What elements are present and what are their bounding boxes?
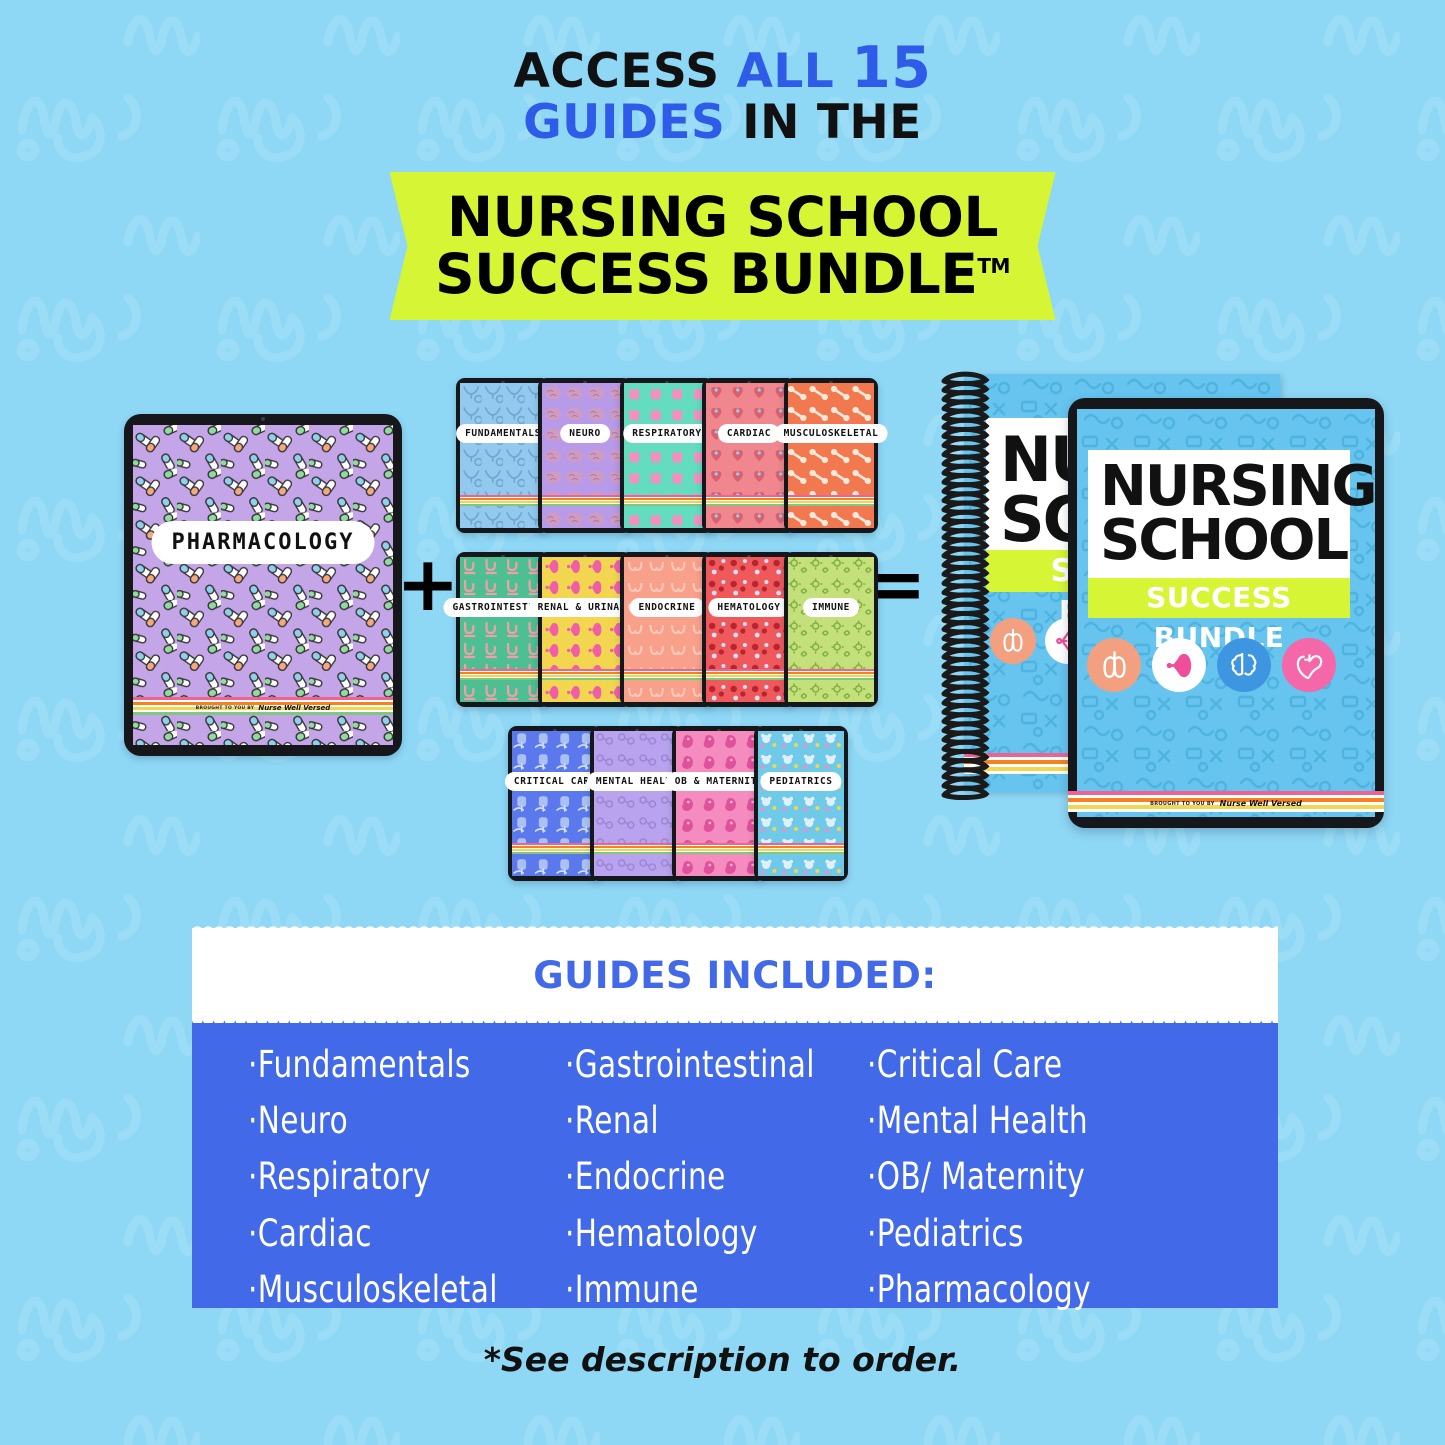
guides-column-3: ·Critical Care·Mental Health·OB/ Materni… bbox=[867, 1037, 1222, 1308]
banner-line-1: NURSING SCHOOL bbox=[447, 189, 998, 246]
guide-list-item: ·Hematology bbox=[565, 1206, 849, 1262]
guide-cover bbox=[460, 557, 546, 702]
guide-label: IMMUNE bbox=[803, 598, 859, 617]
guide-label: HEMATOLOGY bbox=[708, 598, 789, 617]
tablet-gastrointestinal[interactable]: GASTROINTESTINAL bbox=[456, 552, 550, 707]
guide-label: PEDIATRICS bbox=[760, 772, 841, 791]
guide-brand-stripe bbox=[594, 843, 680, 854]
banner-line-2-wrap: SUCCESS BUNDLETM bbox=[435, 246, 1010, 303]
guide-list-item: ·Pharmacology bbox=[867, 1262, 1151, 1318]
pharmacology-cover: PHARMACOLOGY BROUGHT TO YOU BY Nurse Wel… bbox=[133, 425, 393, 745]
guide-label: CARDIAC bbox=[718, 424, 780, 443]
guide-list-item: ·Cardiac bbox=[248, 1206, 532, 1262]
headline-in-the: IN THE bbox=[725, 95, 922, 150]
guide-brand-stripe bbox=[758, 843, 844, 854]
guides-included-card: GUIDES INCLUDED: ·Fundamentals·Neuro·Res… bbox=[192, 928, 1278, 1308]
guide-cover bbox=[460, 383, 546, 528]
guide-cover bbox=[542, 383, 628, 528]
guide-brand-stripe bbox=[542, 669, 628, 680]
headline-line-1: ACCESS ALL 15 bbox=[0, 38, 1445, 98]
guide-cover bbox=[788, 383, 874, 528]
tablet-neuro[interactable]: NEURO bbox=[538, 378, 632, 533]
tablet-ob-maternity[interactable]: OB & MATERNITY bbox=[672, 726, 766, 881]
tablet-cardiac[interactable]: CARDIAC bbox=[702, 378, 796, 533]
headline-all: ALL bbox=[736, 44, 851, 99]
headline-guides: GUIDES bbox=[523, 95, 725, 150]
pharmacology-label: PHARMACOLOGY bbox=[152, 521, 375, 564]
hero-brand-text: BROUGHT TO YOU BY bbox=[196, 706, 255, 711]
guide-list-item: ·Respiratory bbox=[248, 1149, 532, 1205]
guide-list-item: ·OB/ Maternity bbox=[867, 1149, 1151, 1205]
guide-brand-stripe bbox=[624, 669, 710, 680]
guide-cover bbox=[594, 731, 680, 876]
guide-list-item: ·Mental Health bbox=[867, 1093, 1151, 1149]
guide-brand-stripe bbox=[460, 669, 546, 680]
guide-brand-stripe bbox=[624, 495, 710, 506]
tablet-bundle[interactable]: NURSING SCHOOL SUCCESS BUNDLE bbox=[1068, 398, 1384, 828]
tablet-endocrine[interactable]: ENDOCRINE bbox=[620, 552, 714, 707]
brain-icon bbox=[1217, 638, 1271, 692]
trademark-symbol: TM bbox=[977, 254, 1010, 278]
tablet-respiratory[interactable]: RESPIRATORY bbox=[620, 378, 714, 533]
camera-dot bbox=[261, 417, 265, 421]
guide-list-item: ·Renal bbox=[565, 1093, 849, 1149]
guide-list-item: ·Neuro bbox=[248, 1093, 532, 1149]
guide-label: RESPIRATORY bbox=[623, 424, 711, 443]
guide-label: NEURO bbox=[560, 424, 610, 443]
guide-list-item: ·Musculoskeletal bbox=[248, 1262, 532, 1318]
guide-cover bbox=[542, 557, 628, 702]
tablet-critical-care[interactable]: CRITICAL CARE bbox=[508, 726, 602, 881]
bundle-subtitle: SUCCESS BUNDLE bbox=[1088, 578, 1350, 618]
bundle-cover: NURSING SCHOOL SUCCESS BUNDLE bbox=[1077, 409, 1375, 817]
guide-brand-stripe bbox=[676, 843, 762, 854]
guide-cover bbox=[788, 557, 874, 702]
guide-brand-stripe bbox=[460, 495, 546, 506]
guide-cover bbox=[676, 731, 762, 876]
lungs-icon bbox=[990, 618, 1036, 664]
hero-brand-name: Nurse Well Versed bbox=[258, 704, 330, 712]
guides-column-1: ·Fundamentals·Neuro·Respiratory·Cardiac·… bbox=[248, 1037, 603, 1308]
tablet-pediatrics[interactable]: PEDIATRICS bbox=[754, 726, 848, 881]
bundle-title-line2: SCHOOL bbox=[1100, 514, 1342, 568]
guides-heading: GUIDES INCLUDED: bbox=[533, 954, 936, 997]
guide-brand-stripe bbox=[706, 495, 792, 506]
guide-label: ENDOCRINE bbox=[630, 598, 705, 617]
guide-brand-stripe bbox=[512, 843, 598, 854]
headline-access: ACCESS bbox=[514, 44, 737, 99]
bundle-title-block: NURSING SCHOOL bbox=[1088, 450, 1350, 578]
headline-line-2: GUIDES IN THE bbox=[0, 98, 1445, 148]
headline-count: 15 bbox=[851, 35, 931, 101]
guide-brand-stripe bbox=[542, 495, 628, 506]
bundle-brand-text: BROUGHT TO YOU BY bbox=[1150, 801, 1215, 807]
guide-cover bbox=[624, 557, 710, 702]
tablet-pharmacology[interactable]: PHARMACOLOGY BROUGHT TO YOU BY Nurse Wel… bbox=[124, 414, 402, 756]
kidney-icon bbox=[1152, 638, 1206, 692]
guide-cover bbox=[758, 731, 844, 876]
guide-cover bbox=[706, 557, 792, 702]
tablet-hematology[interactable]: HEMATOLOGY bbox=[702, 552, 796, 707]
guide-list-item: ·Pediatrics bbox=[867, 1206, 1151, 1262]
guide-brand-stripe bbox=[788, 669, 874, 680]
scallop-top bbox=[192, 924, 1278, 931]
guides-body: ·Fundamentals·Neuro·Respiratory·Cardiac·… bbox=[192, 1023, 1278, 1308]
tablet-immune[interactable]: IMMUNE bbox=[784, 552, 878, 707]
guide-brand-stripe bbox=[706, 669, 792, 680]
guide-brand-stripe bbox=[788, 495, 874, 506]
guide-list-item: ·Immune bbox=[565, 1262, 849, 1318]
bundle-title-line1: NURSING bbox=[1100, 460, 1342, 514]
guide-label: MUSCULOSKELETAL bbox=[775, 424, 888, 443]
guide-list-item: ·Critical Care bbox=[867, 1037, 1151, 1093]
guide-cover bbox=[512, 731, 598, 876]
spiral-binding-icon bbox=[938, 370, 994, 802]
heart-icon bbox=[1282, 638, 1336, 692]
banner-line-2: SUCCESS BUNDLE bbox=[435, 242, 977, 306]
guide-list-item: ·Endocrine bbox=[565, 1149, 849, 1205]
guide-cover bbox=[706, 383, 792, 528]
guide-list-item: ·Gastrointestinal bbox=[565, 1037, 849, 1093]
page-headline: ACCESS ALL 15 GUIDES IN THE bbox=[0, 38, 1445, 148]
guide-list-item: ·Fundamentals bbox=[248, 1037, 532, 1093]
tablet-mental-health[interactable]: MENTAL HEALTH bbox=[590, 726, 684, 881]
guides-header: GUIDES INCLUDED: bbox=[192, 928, 1278, 1023]
guide-label: FUNDAMENTALS bbox=[456, 424, 550, 443]
lungs-icon bbox=[1087, 638, 1141, 692]
tablet-fundamentals[interactable]: FUNDAMENTALS bbox=[456, 378, 550, 533]
bundle-brand-name: Nurse Well Versed bbox=[1220, 799, 1302, 808]
guide-cover bbox=[624, 383, 710, 528]
bundle-banner: NURSING SCHOOL SUCCESS BUNDLETM bbox=[0, 172, 1445, 320]
tablet-musculoskeletal[interactable]: MUSCULOSKELETAL bbox=[784, 378, 878, 533]
tablet-renal-urinary[interactable]: RENAL & URINARY bbox=[538, 552, 632, 707]
scallop-middle bbox=[192, 1020, 1278, 1027]
footer-note: *See description to order. bbox=[0, 1340, 1445, 1379]
bundle-organ-row bbox=[1087, 638, 1336, 692]
